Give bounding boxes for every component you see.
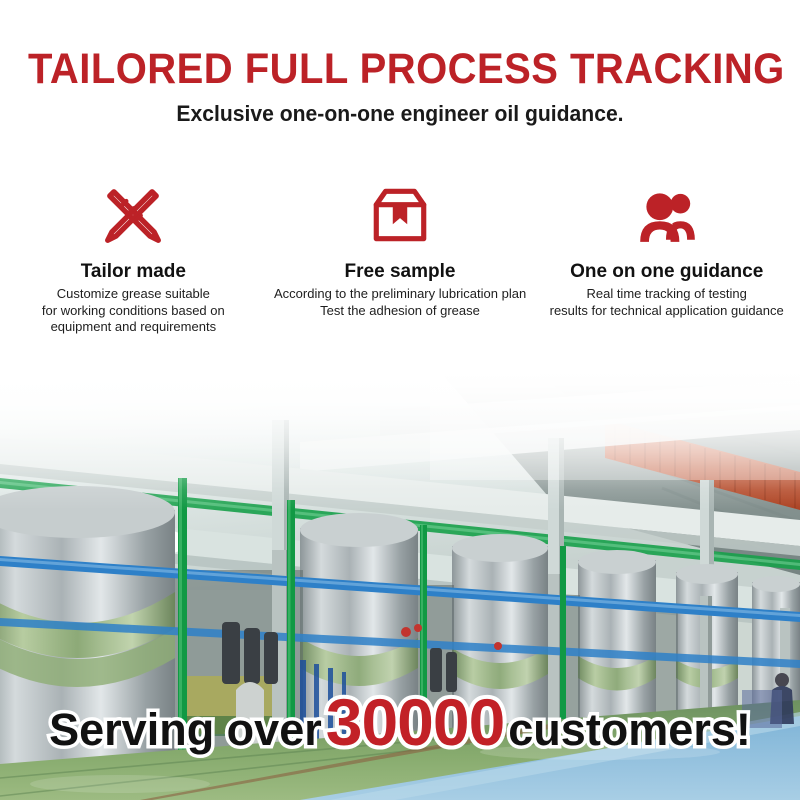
- header-section: TAILORED FULL PROCESS TRACKING Exclusive…: [0, 0, 800, 362]
- feature-description: Real time tracking of testing results fo…: [550, 286, 784, 319]
- page-subtitle: Exclusive one-on-one engineer oil guidan…: [16, 100, 784, 128]
- two-people-icon: [634, 182, 700, 248]
- ruler-pencil-icon: [100, 182, 166, 248]
- feature-list: Tailor made Customize grease suitable fo…: [0, 182, 800, 336]
- feature-desc-line: Test the adhesion of grease: [274, 303, 526, 320]
- feature-desc-line: Real time tracking of testing: [550, 286, 784, 303]
- banner-customer-count: 30000: [326, 685, 505, 759]
- feature-item-free-sample: Free sample According to the preliminary…: [267, 182, 534, 319]
- page-title: TAILORED FULL PROCESS TRACKING: [28, 46, 772, 92]
- feature-item-one-on-one-guidance: One on one guidance Real time tracking o…: [533, 182, 800, 319]
- feature-title: One on one guidance: [570, 260, 763, 283]
- feature-desc-line: equipment and requirements: [42, 319, 225, 336]
- feature-title: Tailor made: [81, 260, 186, 283]
- package-box-icon: [367, 182, 433, 248]
- feature-description: Customize grease suitable for working co…: [42, 286, 225, 336]
- banner-suffix-text: customers!: [508, 704, 751, 755]
- feature-desc-line: According to the preliminary lubrication…: [274, 286, 526, 303]
- promo-banner-page: TAILORED FULL PROCESS TRACKING Exclusive…: [0, 0, 800, 800]
- feature-desc-line: for working conditions based on: [42, 303, 225, 320]
- feature-desc-line: results for technical application guidan…: [550, 303, 784, 320]
- banner-prefix-text: Serving over: [49, 704, 322, 755]
- feature-title: Free sample: [345, 260, 456, 283]
- feature-desc-line: Customize grease suitable: [42, 286, 225, 303]
- feature-item-tailor-made: Tailor made Customize grease suitable fo…: [0, 182, 267, 336]
- customer-count-banner: Serving over30000customers!: [0, 692, 800, 771]
- feature-description: According to the preliminary lubrication…: [274, 286, 526, 319]
